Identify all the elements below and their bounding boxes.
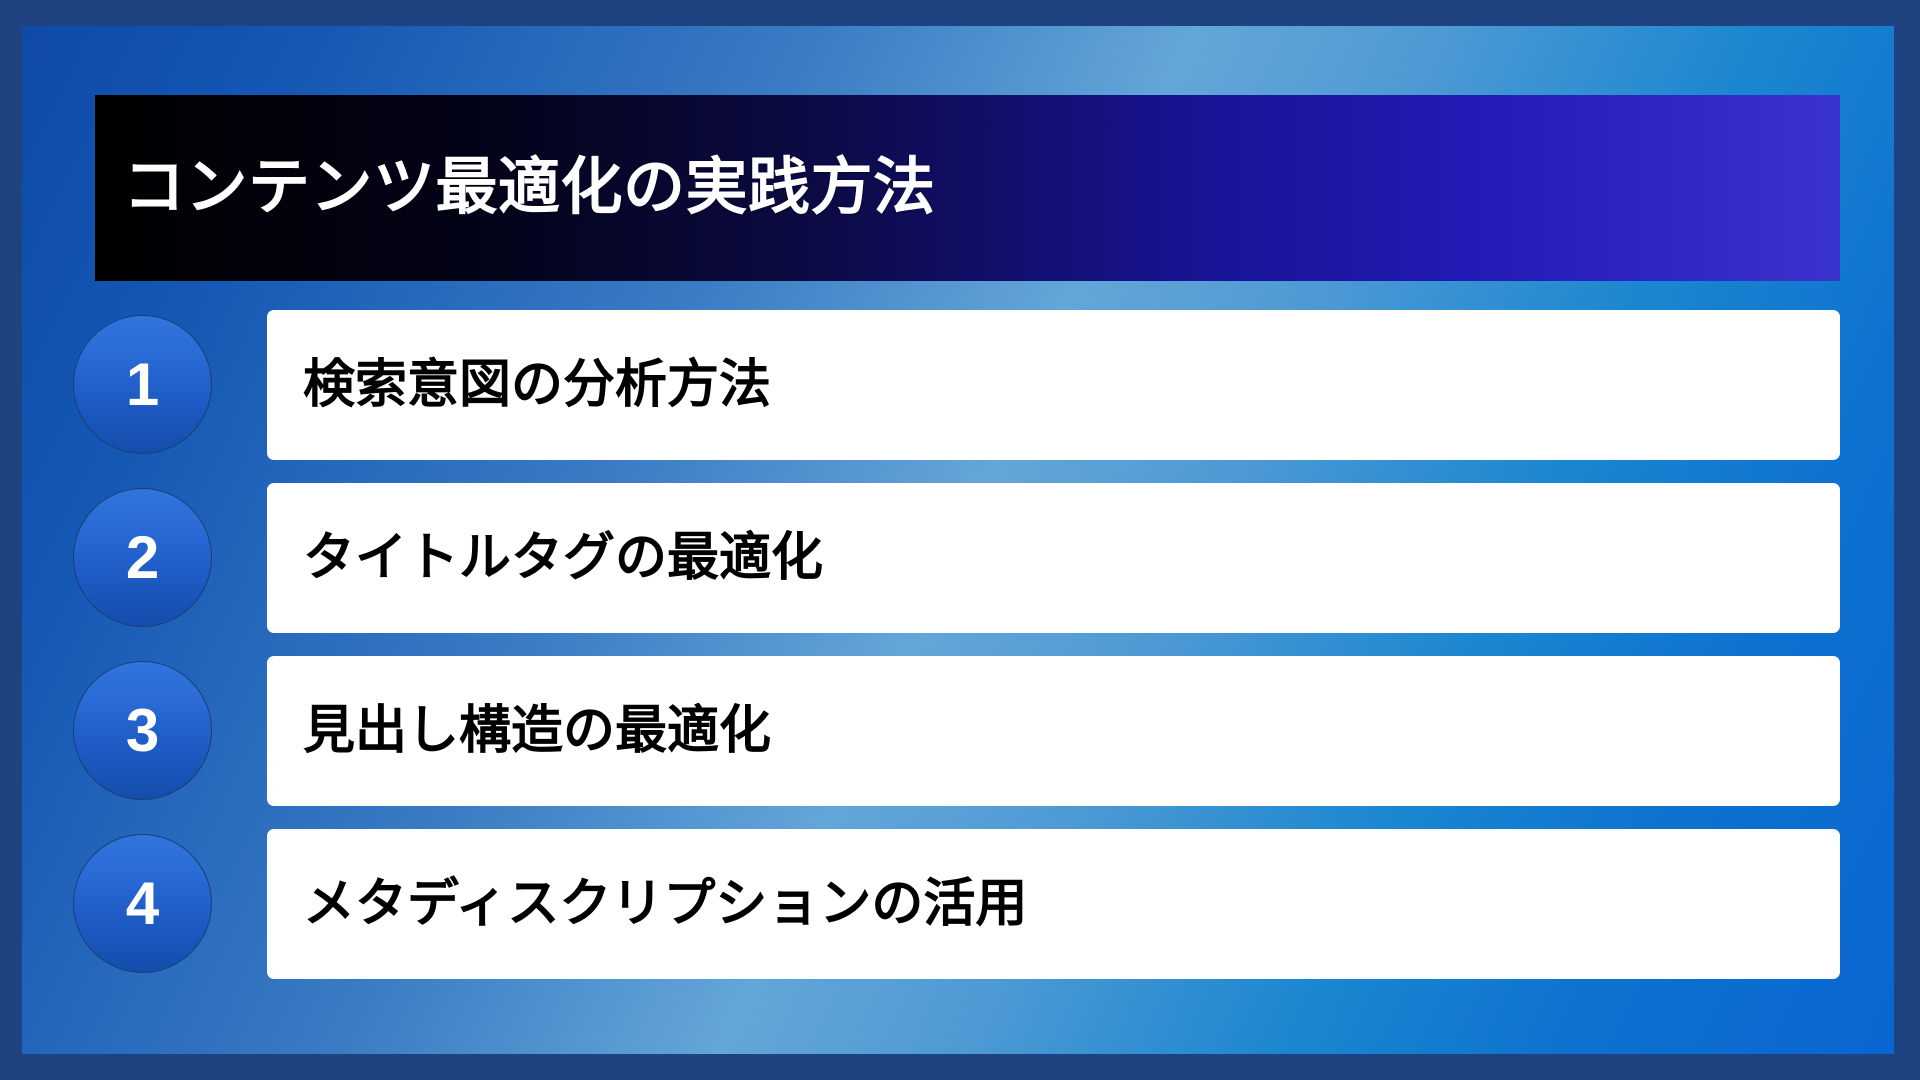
- step-badge-1: 1: [73, 315, 212, 454]
- slide-frame: コンテンツ最適化の実践方法 1 検索意図の分析方法 2 タイトルタグの最適化: [0, 0, 1920, 1080]
- list-item[interactable]: 4 メタディスクリプションの活用: [22, 829, 1894, 979]
- step-badge-3: 3: [73, 661, 212, 800]
- slide-panel: コンテンツ最適化の実践方法 1 検索意図の分析方法 2 タイトルタグの最適化: [22, 26, 1894, 1054]
- numbered-list: 1 検索意図の分析方法 2 タイトルタグの最適化 3 見出し: [22, 310, 1894, 979]
- step-label: タイトルタグの最適化: [303, 532, 823, 584]
- step-label: 見出し構造の最適化: [303, 705, 771, 757]
- step-number: 4: [126, 874, 159, 934]
- page-title: コンテンツ最適化の実践方法: [123, 157, 936, 219]
- step-number: 1: [126, 355, 159, 415]
- step-number: 2: [126, 528, 159, 588]
- step-badge-4: 4: [73, 834, 212, 973]
- step-card-1[interactable]: 検索意図の分析方法: [267, 310, 1840, 460]
- list-item[interactable]: 2 タイトルタグの最適化: [22, 483, 1894, 633]
- step-badge-2: 2: [73, 488, 212, 627]
- step-number: 3: [126, 701, 159, 761]
- step-card-3[interactable]: 見出し構造の最適化: [267, 656, 1840, 806]
- step-card-4[interactable]: メタディスクリプションの活用: [267, 829, 1840, 979]
- step-card-2[interactable]: タイトルタグの最適化: [267, 483, 1840, 633]
- list-item[interactable]: 3 見出し構造の最適化: [22, 656, 1894, 806]
- step-label: 検索意図の分析方法: [303, 359, 771, 411]
- slide-title-bar: コンテンツ最適化の実践方法: [95, 95, 1840, 281]
- list-item[interactable]: 1 検索意図の分析方法: [22, 310, 1894, 460]
- step-label: メタディスクリプションの活用: [303, 878, 1027, 930]
